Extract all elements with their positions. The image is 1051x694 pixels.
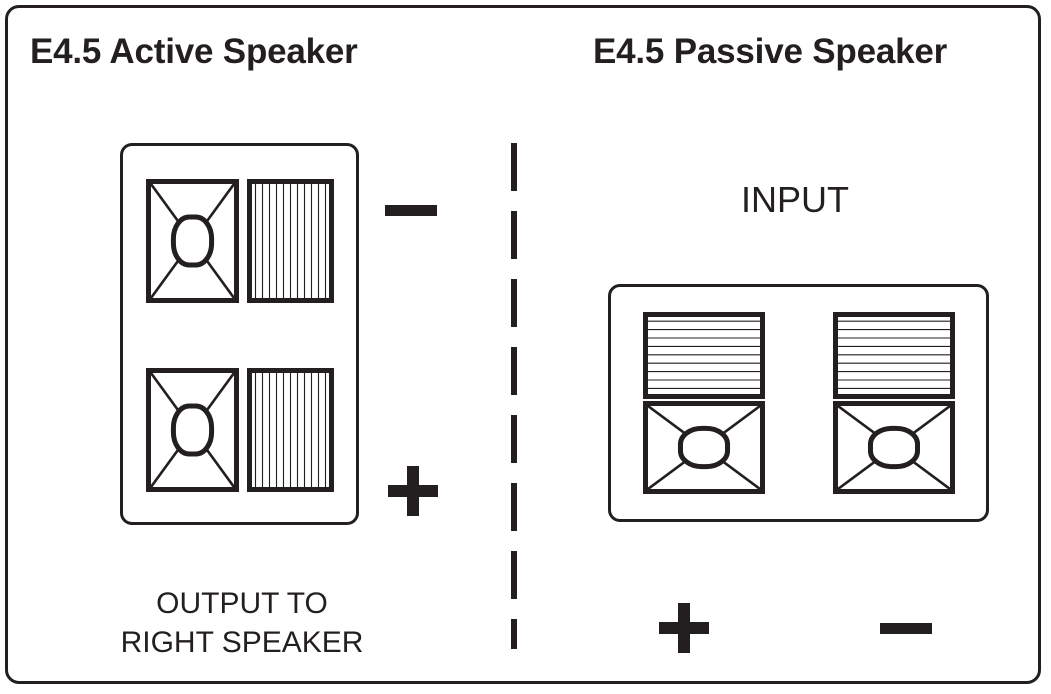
plus-icon-vertical-bar	[407, 466, 419, 516]
passive-jack-left	[643, 401, 765, 494]
active-speaker-caption: OUTPUT TO RIGHT SPEAKER	[92, 584, 392, 662]
active-terminal-block-top	[247, 179, 334, 303]
diagram-canvas: E4.5 Active Speaker	[0, 0, 1051, 694]
active-speaker-title: E4.5 Active Speaker	[30, 34, 358, 69]
minus-icon	[385, 205, 437, 216]
active-caption-line-2: RIGHT SPEAKER	[92, 623, 392, 662]
passive-speaker-input-label: INPUT	[675, 182, 915, 218]
passive-jack-right	[833, 401, 955, 494]
passive-connector-plate	[608, 284, 989, 522]
minus-icon	[880, 623, 932, 634]
plus-icon-vertical-bar	[678, 603, 690, 653]
passive-speaker-title: E4.5 Passive Speaker	[593, 34, 947, 69]
active-terminal-sign-minus	[385, 198, 437, 222]
active-caption-line-1: OUTPUT TO	[92, 584, 392, 623]
passive-terminal-block-left	[643, 312, 765, 399]
active-terminal-block-bottom	[247, 368, 334, 492]
passive-terminal-sign-plus	[659, 603, 709, 653]
active-jack-top	[146, 179, 239, 303]
passive-terminal-block-right	[833, 312, 955, 399]
active-terminal-sign-plus	[388, 466, 438, 516]
passive-terminal-sign-minus	[880, 616, 932, 640]
active-jack-bottom	[146, 368, 239, 492]
panel-divider-dashed-line	[511, 143, 517, 649]
active-connector-plate	[120, 143, 359, 525]
